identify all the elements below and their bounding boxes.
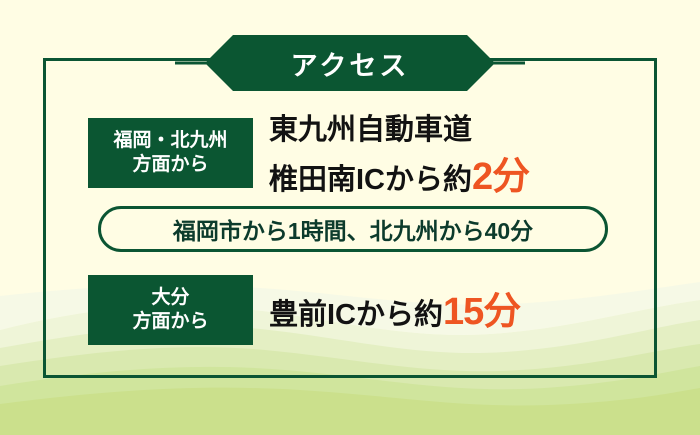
travel-time-note-text: 福岡市から1時間、北九州から40分 (173, 212, 533, 246)
title-banner: アクセス (175, 33, 525, 93)
route-oita-minutes: 15分 (443, 291, 520, 333)
route-oita-description: 豊前ICから約15分 (269, 286, 520, 340)
access-infographic: アクセス 福岡・北九州 方面から 東九州自動車道 椎田南ICから約2分 福岡市か… (0, 0, 700, 435)
tag-oita-line-2: 方面から (132, 310, 208, 334)
tag-oita: 大分 方面から (88, 275, 253, 345)
route-fukuoka-duration-line: 椎田南ICから約2分 (269, 151, 529, 205)
tag-oita-line-1: 大分 (151, 286, 189, 310)
travel-time-note: 福岡市から1時間、北九州から40分 (98, 206, 608, 252)
route-fukuoka-expressway: 東九州自動車道 (269, 110, 529, 151)
tag-fukuoka-line-2: 方面から (132, 153, 208, 177)
tag-fukuoka-line-1: 福岡・北九州 (113, 129, 227, 153)
routes-container: 福岡・北九州 方面から 東九州自動車道 椎田南ICから約2分 福岡市から1時間、… (43, 58, 657, 378)
route-fukuoka-minutes: 2分 (472, 156, 529, 198)
banner-title-text: アクセス (175, 33, 525, 93)
route-oita-duration-line: 豊前ICから約15分 (269, 286, 520, 340)
tag-fukuoka-kitakyushu: 福岡・北九州 方面から (88, 118, 253, 188)
route-oita-ic-label: 豊前ICから約 (269, 299, 443, 331)
route-fukuoka-ic-label: 椎田南ICから約 (269, 164, 472, 196)
route-fukuoka-description: 東九州自動車道 椎田南ICから約2分 (269, 110, 529, 205)
